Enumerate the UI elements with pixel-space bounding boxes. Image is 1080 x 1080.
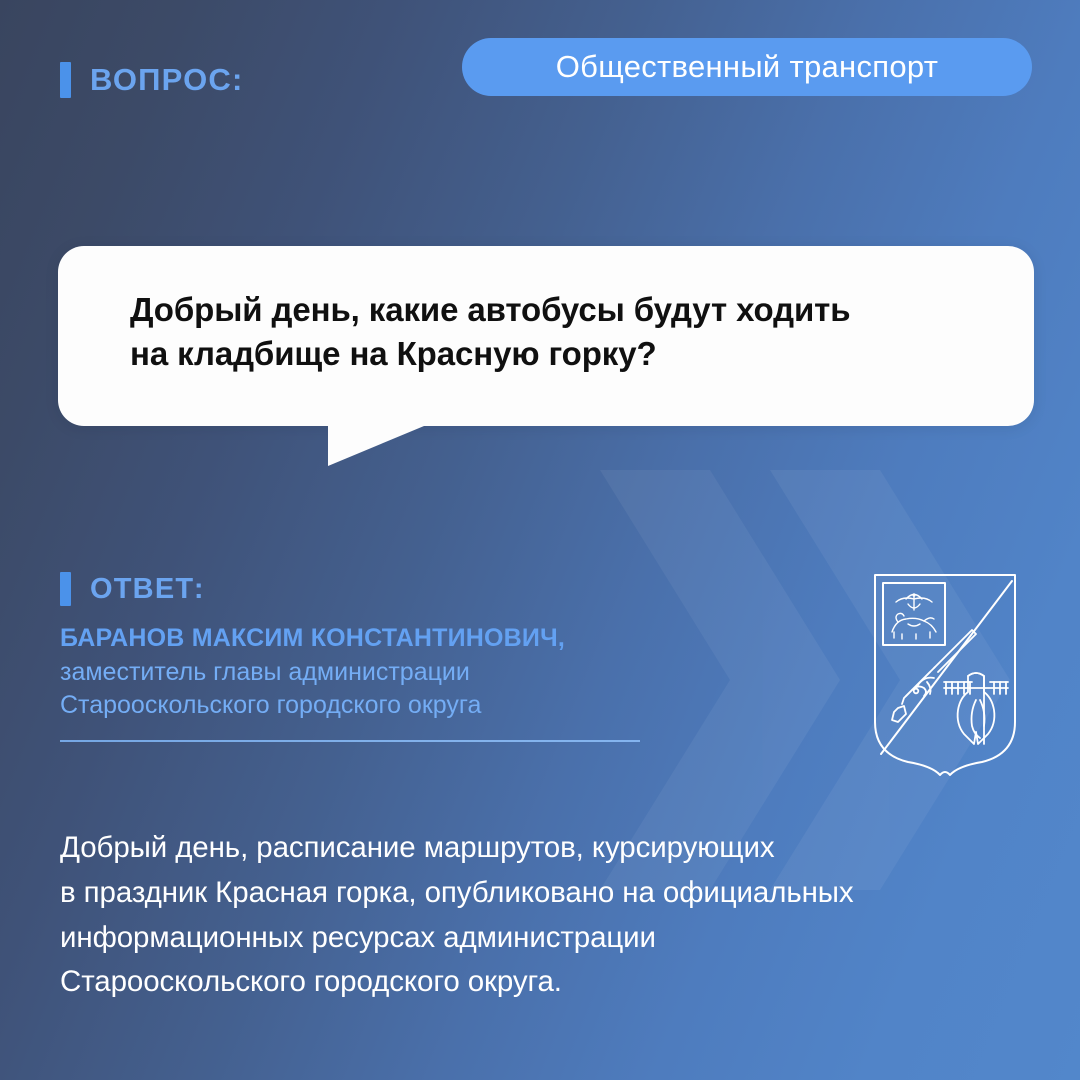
answer-label-text: ОТВЕТ: (90, 573, 205, 606)
answer-body-text: Добрый день, расписание маршрутов, курси… (60, 826, 1020, 1005)
question-bubble: Добрый день, какие автобусы будут ходить… (58, 246, 1034, 426)
question-section-label: ВОПРОС: (60, 62, 244, 98)
author-name: БАРАНОВ МАКСИМ КОНСТАНТИНОВИЧ, (60, 622, 700, 654)
question-bubble-wrapper: Добрый день, какие автобусы будут ходить… (58, 246, 1034, 426)
poster-canvas: ВОПРОС: Общественный транспорт Добрый де… (0, 0, 1080, 1080)
topic-badge-text: Общественный транспорт (556, 49, 938, 85)
author-title: заместитель главы администрации Старооск… (60, 656, 700, 722)
author-divider (60, 740, 640, 742)
accent-bar-icon (60, 572, 71, 606)
question-label-text: ВОПРОС: (90, 62, 244, 98)
accent-bar-icon (60, 62, 71, 98)
answer-section-label: ОТВЕТ: (60, 572, 205, 606)
question-text: Добрый день, какие автобусы будут ходить… (130, 288, 986, 376)
coat-of-arms-icon (872, 572, 1018, 778)
speech-bubble-tail-icon (328, 426, 424, 466)
topic-badge[interactable]: Общественный транспорт (462, 38, 1032, 96)
answer-author-block: БАРАНОВ МАКСИМ КОНСТАНТИНОВИЧ, заместите… (60, 622, 700, 742)
